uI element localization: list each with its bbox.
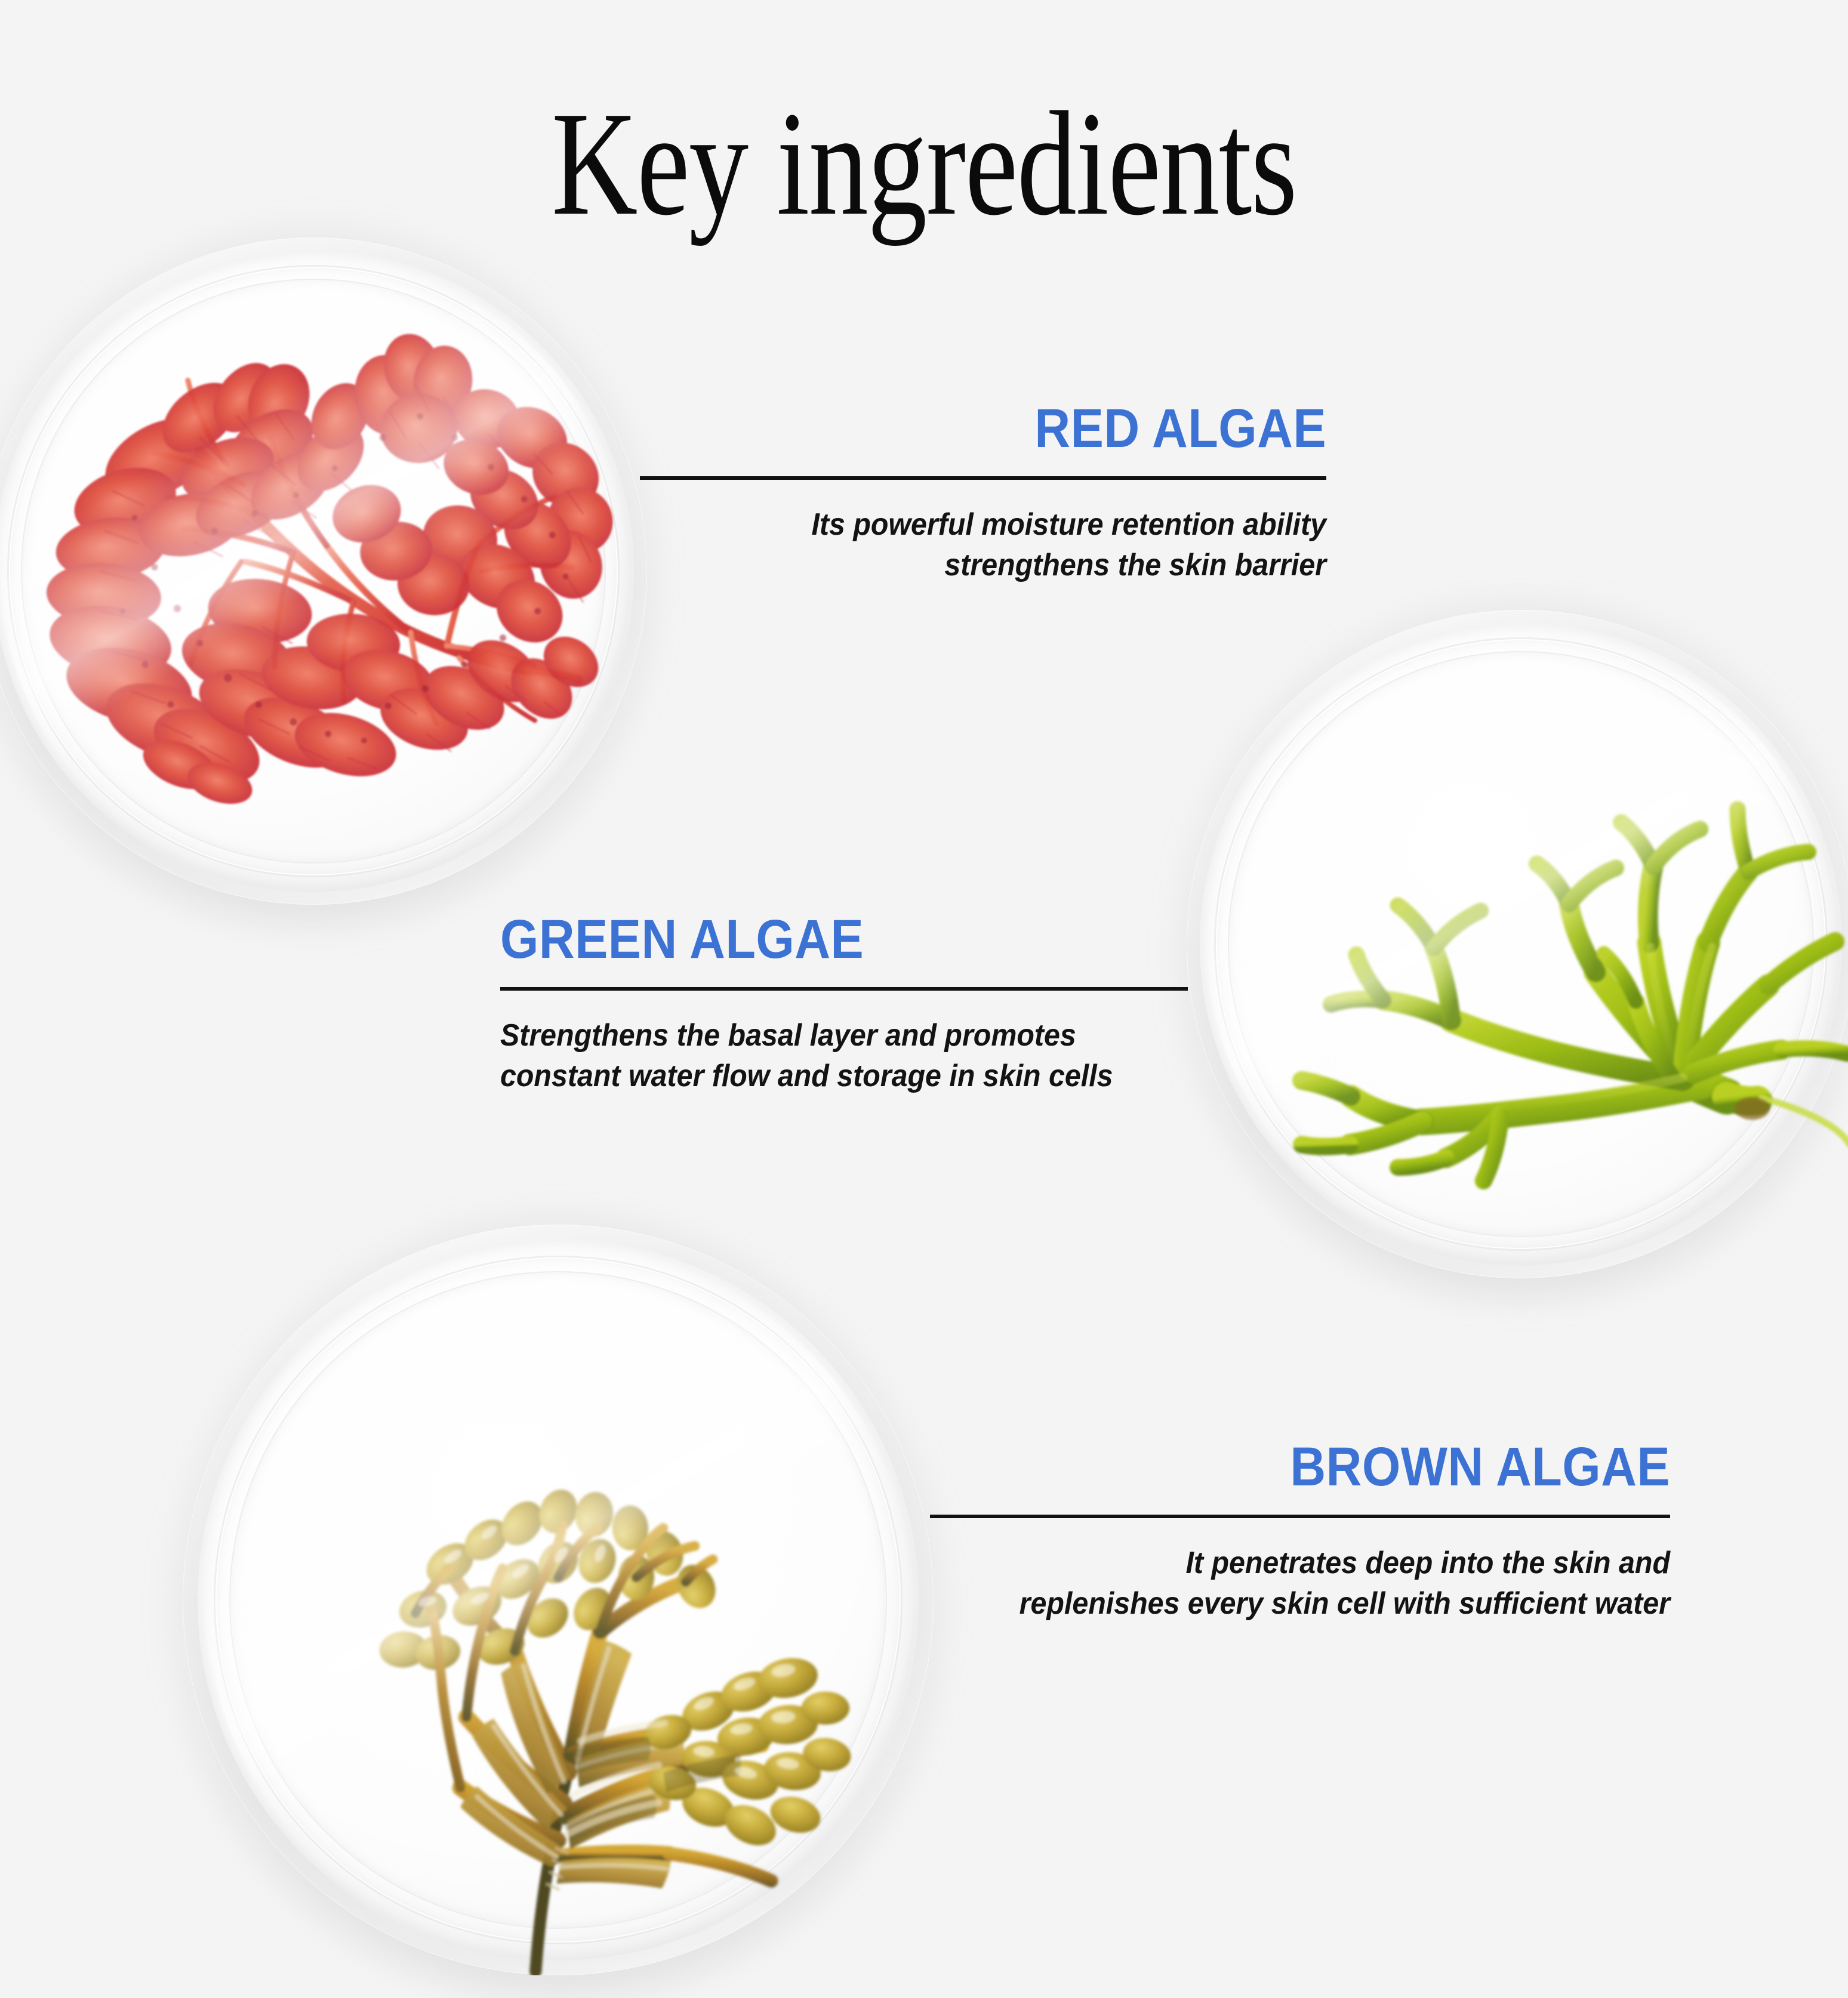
petri-dish-brown-algae [183,1225,934,1975]
infographic-canvas: Key ingredients [0,0,1848,1848]
petri-dish-red-algae [0,238,647,905]
dish-floor [9,267,618,875]
ingredient-divider-green-algae [500,987,1188,991]
page-title: Key ingredients [185,90,1664,239]
ingredient-description-red-algae: Its powerful moisture retention ability … [688,505,1327,585]
petri-dish-green-algae [1187,610,1848,1278]
ingredient-block-red-algae: RED ALGAE Its powerful moisture retentio… [640,401,1326,585]
ingredient-block-green-algae: GREEN ALGAE Strengthens the basal layer … [500,912,1188,1096]
ingredient-description-green-algae: Strengthens the basal layer and promotes… [500,1016,1139,1096]
dish-floor [1216,639,1825,1248]
ingredient-block-brown-algae: BROWN ALGAE It penetrates deep into the … [930,1439,1670,1624]
ingredient-divider-brown-algae [930,1515,1670,1518]
ingredient-description-brown-algae: It penetrates deep into the skin and rep… [982,1543,1670,1624]
ingredient-heading-brown-algae: BROWN ALGAE [1004,1439,1670,1494]
ingredient-heading-red-algae: RED ALGAE [709,401,1326,456]
ingredient-divider-red-algae [640,476,1326,480]
dish-floor [215,1257,900,1942]
ingredient-heading-green-algae: GREEN ALGAE [500,912,1119,967]
